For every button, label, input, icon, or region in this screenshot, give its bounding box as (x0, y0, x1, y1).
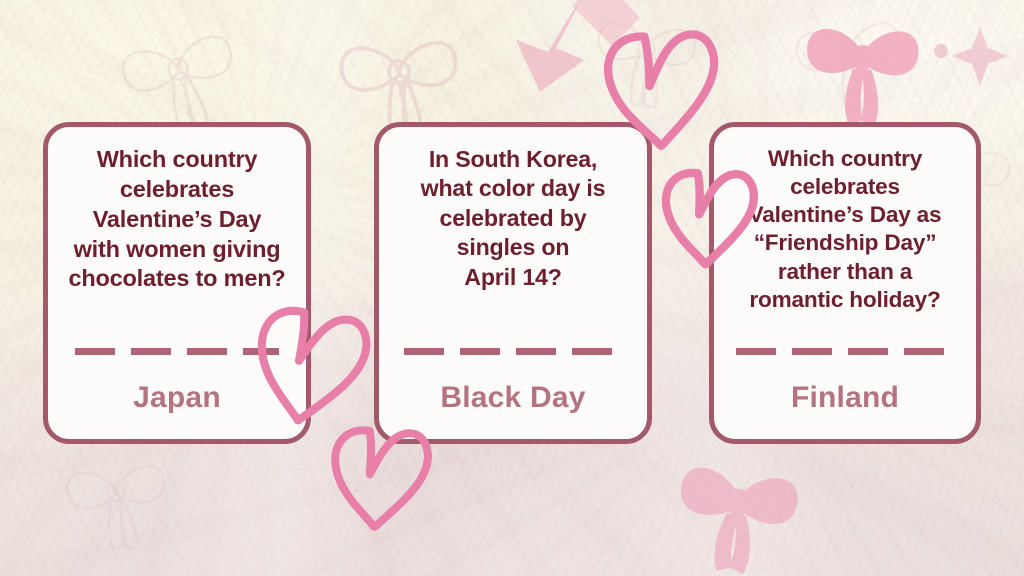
screenshot-canvas: Which country celebrates Valentine’s Day… (0, 0, 1024, 576)
flashcard-3-divider (736, 348, 954, 355)
flashcard-3-answer: Finland (791, 355, 899, 425)
flashcards-row: Which country celebrates Valentine’s Day… (0, 0, 1024, 576)
flashcard-2-answer: Black Day (440, 355, 585, 425)
flashcard-1-answer: Japan (133, 355, 221, 425)
flashcard-1[interactable]: Which country celebrates Valentine’s Day… (43, 122, 311, 444)
flashcard-1-question: Which country celebrates Valentine’s Day… (68, 145, 285, 294)
flashcard-2-divider (404, 348, 622, 355)
flashcard-3-question: Which country celebrates Valentine’s Day… (749, 145, 942, 314)
flashcard-2[interactable]: In South Korea, what color day is celebr… (374, 122, 652, 444)
flashcard-2-question: In South Korea, what color day is celebr… (421, 145, 606, 292)
flashcard-1-divider (75, 348, 280, 355)
flashcard-3[interactable]: Which country celebrates Valentine’s Day… (709, 122, 981, 444)
